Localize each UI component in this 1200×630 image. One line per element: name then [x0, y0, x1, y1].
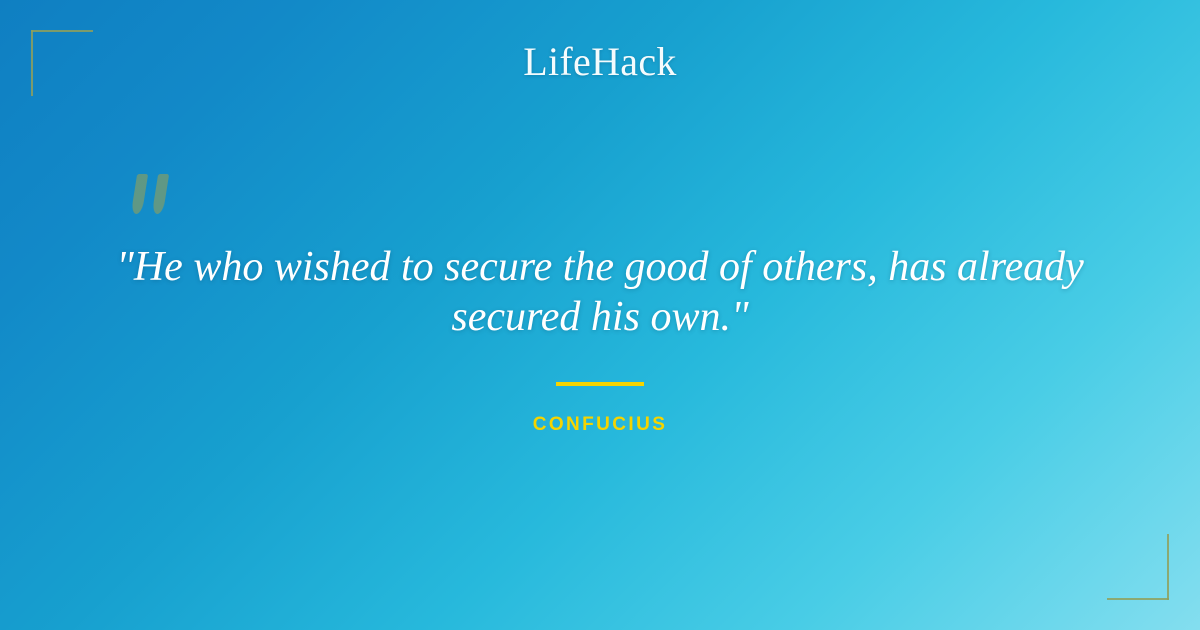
quote-block: "He who wished to secure the good of oth… — [100, 242, 1100, 342]
quotation-mark-stroke-left — [131, 174, 148, 214]
quote-text: "He who wished to secure the good of oth… — [100, 242, 1100, 342]
quotation-mark-stroke-right — [152, 174, 169, 214]
corner-bracket-bottom-right — [1107, 534, 1169, 600]
quote-author: CONFUCIUS — [0, 414, 1200, 436]
brand-logo: LifeHack — [0, 38, 1200, 85]
quote-card: LifeHack "He who wished to secure the go… — [0, 0, 1200, 630]
author-divider — [556, 382, 644, 386]
quotation-mark-icon — [128, 170, 184, 222]
